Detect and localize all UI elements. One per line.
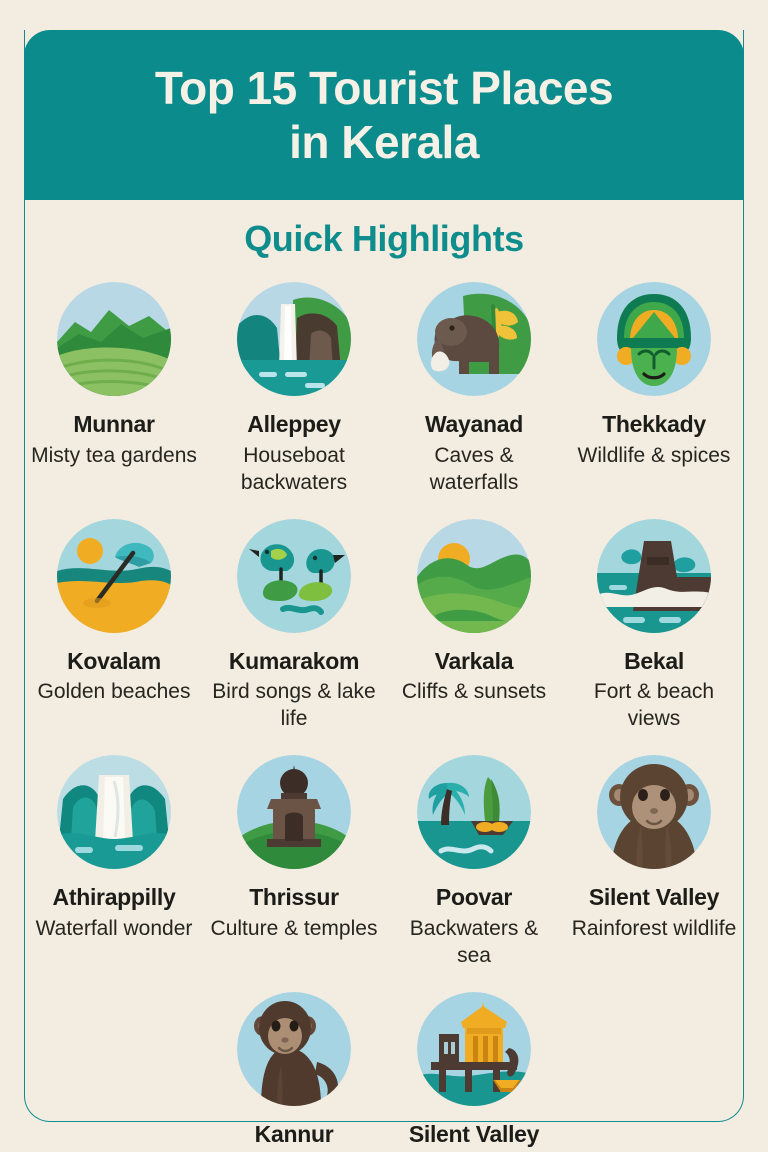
highlight-tile-name: Kovalam [67, 649, 161, 675]
monkey-sitting-icon [237, 992, 351, 1106]
highlight-tile-name: Poovar [436, 885, 512, 911]
highlight-tile-name: Wayanad [425, 412, 523, 438]
highlight-tile-description: Rainforest wildlife [572, 916, 737, 943]
highlight-tile[interactable]: Silent Valley [384, 992, 564, 1152]
highlight-tile-name: Alleppey [247, 412, 340, 438]
kathakali-face-icon [597, 282, 711, 396]
highlight-tile-name: Munnar [73, 412, 154, 438]
highlight-tile-description: Golden beaches [38, 679, 191, 706]
highlight-tile-description: Fort & beach views [570, 679, 738, 733]
highlights-grid: MunnarMisty tea gardens AlleppeyHouseboa… [24, 282, 744, 1152]
waterfall-cliff-icon [237, 282, 351, 396]
highlight-tile[interactable]: ThrissurCulture & temples [204, 755, 384, 970]
highlight-tile-name: Varkala [435, 649, 513, 675]
highlight-tile-description: Waterfall wonder [36, 916, 193, 943]
highlight-tile-description: Bird songs & lake life [210, 679, 378, 733]
birds-lilypad-icon [237, 519, 351, 633]
highlight-tile-description: Backwaters & sea [390, 916, 558, 970]
highlight-tile-name: Athirappilly [53, 885, 176, 911]
monkey-face-icon [597, 755, 711, 869]
elephant-icon [417, 282, 531, 396]
highlight-tile[interactable]: MunnarMisty tea gardens [24, 282, 204, 497]
highlight-tile[interactable]: WayanadCaves & waterfalls [384, 282, 564, 497]
section-heading: Quick Highlights [0, 218, 768, 260]
highlight-tile[interactable]: AthirappillyWaterfall wonder [24, 755, 204, 970]
highlight-tile[interactable]: PoovarBackwaters & sea [384, 755, 564, 970]
temple-icon [237, 755, 351, 869]
highlight-tile-description: Houseboat backwaters [210, 443, 378, 497]
highlight-tile-name: Kannur [255, 1122, 334, 1148]
palm-boat-icon [417, 755, 531, 869]
highlight-tile-name: Thekkady [602, 412, 706, 438]
highlight-tile-name: Silent Valley [409, 1122, 539, 1148]
waterfall-icon [57, 755, 171, 869]
beach-umbrella-icon [57, 519, 171, 633]
highlight-tile[interactable]: BekalFort & beach views [564, 519, 744, 734]
page-title-line1: Top 15 Tourist Places [155, 62, 613, 114]
highlight-tile[interactable]: KovalamGolden beaches [24, 519, 204, 734]
highlight-tile-name: Kumarakom [229, 649, 359, 675]
highlight-tile-description: Cliffs & sunsets [402, 679, 546, 706]
highlight-tile[interactable]: VarkalaCliffs & sunsets [384, 519, 564, 734]
sunset-hills-icon [417, 519, 531, 633]
poster-header: Top 15 Tourist Places in Kerala [24, 30, 744, 200]
highlight-tile-description: Misty tea gardens [31, 443, 197, 470]
highlight-tile-name: Silent Valley [589, 885, 719, 911]
highlight-tile[interactable]: ThekkadyWildlife & spices [564, 282, 744, 497]
highlight-tile[interactable]: KumarakomBird songs & lake life [204, 519, 384, 734]
highlight-tile-name: Thrissur [249, 885, 339, 911]
stilt-house-icon [417, 992, 531, 1106]
highlight-tile-description: Culture & temples [211, 916, 378, 943]
highlight-tile-description: Wildlife & spices [578, 443, 731, 470]
highlight-tile[interactable]: Silent ValleyRainforest wildlife [564, 755, 744, 970]
page-title-line2: in Kerala [289, 116, 479, 168]
infographic-poster: Top 15 Tourist Places in Kerala Quick Hi… [0, 0, 768, 1152]
fort-sea-icon [597, 519, 711, 633]
highlight-tile-description: Caves & waterfalls [390, 443, 558, 497]
page-title: Top 15 Tourist Places in Kerala [129, 61, 639, 170]
highlight-tile[interactable]: Kannur [204, 992, 384, 1152]
highlight-tile[interactable]: AlleppeyHouseboat backwaters [204, 282, 384, 497]
highlight-tile-name: Bekal [624, 649, 684, 675]
tea-hills-icon [57, 282, 171, 396]
